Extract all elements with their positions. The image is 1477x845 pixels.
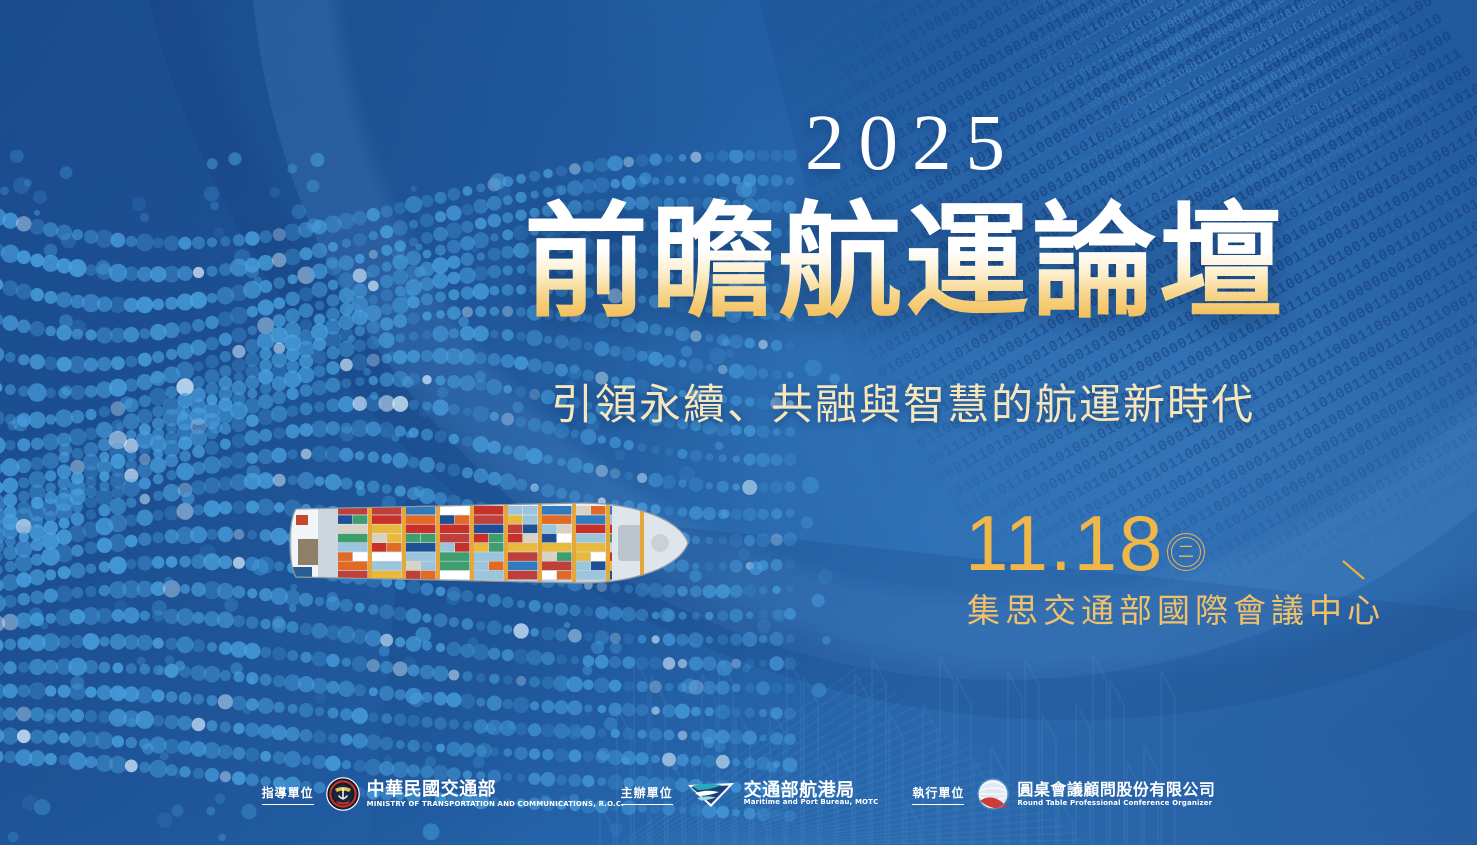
sponsor-name-en: Maritime and Port Bureau, MOTC xyxy=(744,798,879,807)
sponsor-name-cn: 中華民國交通部 xyxy=(367,780,587,800)
page-subtitle: 引領永續、共融與智慧的航運新時代 xyxy=(551,371,1255,432)
event-date-venue-block: 11.18 二 集思交通部國際會議中心 xyxy=(965,508,1385,638)
event-venue: 集思交通部國際會議中心 xyxy=(967,584,1385,632)
event-date-row: 11.18 二 xyxy=(965,508,1385,580)
page-year: 2025 xyxy=(805,104,1019,183)
sponsor-role-label: 執行單位 xyxy=(912,784,964,805)
sponsor-name-en: Round Table Professional Conference Orga… xyxy=(1017,799,1215,808)
right-arrow-underline-icon xyxy=(1217,558,1367,584)
sponsor-name-en: MINISTRY OF TRANSPORTATION AND COMMUNICA… xyxy=(367,800,587,809)
sponsor-mark: 圓桌會議顧問股份有限公司 Round Table Professional Co… xyxy=(976,777,1215,811)
weekday-label: 二 xyxy=(1178,544,1194,560)
sponsor-item-round-table: 執行單位 圓桌會議顧問股份有限公司 Round Table Profession… xyxy=(912,777,1215,811)
sponsor-mark: 交通部航港局 Maritime and Port Bureau, MOTC xyxy=(685,777,879,811)
headline-block: 2025 前瞻航運論壇 引領永續、共融與智慧的航運新時代 xyxy=(0,0,1477,845)
motc-emblem-icon xyxy=(326,777,360,811)
poster-canvas: 0110101000100111010011111010011111111000… xyxy=(0,0,1477,845)
maritime-port-bureau-icon xyxy=(685,777,737,811)
sponsor-mark: 中華民國交通部 MINISTRY OF TRANSPORTATION AND C… xyxy=(326,777,587,811)
sponsor-name-cn: 圓桌會議顧問股份有限公司 xyxy=(1017,781,1215,799)
sponsor-role-label: 主辦單位 xyxy=(621,784,673,805)
sponsor-role-label: 指導單位 xyxy=(262,784,314,805)
sponsor-text: 中華民國交通部 MINISTRY OF TRANSPORTATION AND C… xyxy=(367,780,587,809)
event-date: 11.18 xyxy=(965,504,1164,582)
page-title: 前瞻航運論壇 xyxy=(524,196,1286,330)
sponsor-bar: 指導單位 中華民國交通部 MINISTRY OF TRANSPORTATION … xyxy=(0,777,1477,811)
sponsor-text: 圓桌會議顧問股份有限公司 Round Table Professional Co… xyxy=(1017,781,1215,808)
round-table-globe-icon xyxy=(976,777,1010,811)
sponsor-item-motc: 指導單位 中華民國交通部 MINISTRY OF TRANSPORTATION … xyxy=(262,777,587,811)
weekday-badge: 二 xyxy=(1167,533,1205,571)
sponsor-item-maritime-port-bureau: 主辦單位 交通部航港局 Maritime and Port Bureau, MO… xyxy=(621,777,879,811)
sponsor-text: 交通部航港局 Maritime and Port Bureau, MOTC xyxy=(744,781,879,807)
